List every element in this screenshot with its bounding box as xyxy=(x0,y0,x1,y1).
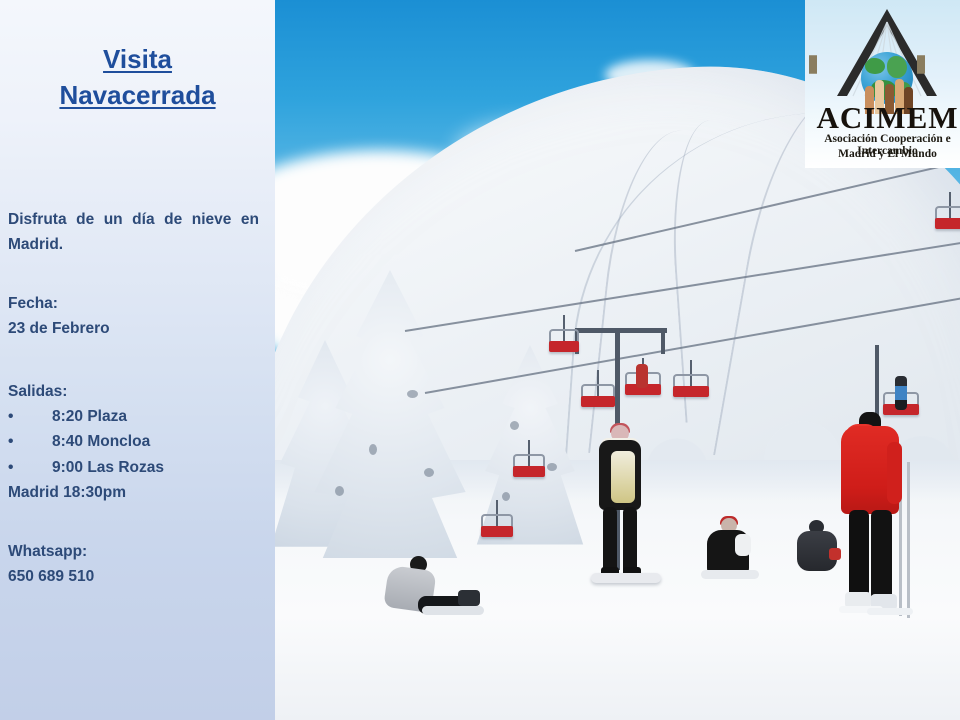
date-value: 23 de Febrero xyxy=(8,316,267,341)
books-right-icon xyxy=(917,56,960,104)
bullet-icon: • xyxy=(8,404,18,429)
logo-subtitle-2: Madrid y El Mundo xyxy=(805,148,960,160)
chair-rider xyxy=(636,364,648,388)
list-item: • 9:00 Las Rozas xyxy=(8,455,267,480)
logo-name: ACIMEM xyxy=(805,100,960,136)
tree-detail xyxy=(407,390,418,398)
list-item: • 8:20 Plaza xyxy=(8,404,267,429)
departure-text: 8:20 Plaza xyxy=(52,404,127,429)
date-label: Fecha: xyxy=(8,291,267,316)
chair-seat xyxy=(549,341,579,352)
chair-seat xyxy=(513,466,545,477)
info-panel: Visita Navacerrada Disfruta de un día de… xyxy=(0,0,275,720)
tree-detail xyxy=(369,444,377,455)
intro-text: Disfruta de un día de nieve en Madrid. xyxy=(8,207,267,257)
chair-seat xyxy=(935,218,960,229)
tree-detail xyxy=(424,468,434,477)
chair-rider xyxy=(895,376,907,410)
snowboard xyxy=(701,570,759,579)
person-boot xyxy=(458,590,480,606)
globe-land xyxy=(887,56,907,78)
title-line-2: Navacerrada xyxy=(8,78,267,114)
whatsapp-block: Whatsapp: 650 689 510 xyxy=(8,539,267,589)
departures-block: Salidas: • 8:20 Plaza • 8:40 Moncloa • 9… xyxy=(8,379,267,505)
acimem-logo: ACIMEM Asociación Cooperación e Intercam… xyxy=(805,0,960,168)
chair-seat xyxy=(481,526,513,537)
ski-pole xyxy=(907,462,910,618)
lift-pylon-arm xyxy=(575,328,667,333)
snowboard xyxy=(591,573,661,583)
person-skier-red-jacket xyxy=(835,412,925,622)
lift-pylon-arm xyxy=(661,328,665,354)
departure-text: 8:40 Moncloa xyxy=(52,429,150,454)
globe-land xyxy=(865,58,885,74)
person-leg xyxy=(849,510,869,598)
books-left-icon xyxy=(809,56,857,104)
person-gear xyxy=(735,534,751,556)
return-time: Madrid 18:30pm xyxy=(8,480,267,505)
title-line-1: Visita xyxy=(8,42,267,78)
person-kneeling xyxy=(705,518,765,582)
person-leg xyxy=(871,510,892,600)
list-item: • 8:40 Moncloa xyxy=(8,429,267,454)
bullet-icon: • xyxy=(8,429,18,454)
book xyxy=(815,55,817,74)
chair-seat xyxy=(581,396,615,407)
tree-detail xyxy=(547,463,557,471)
person-arm xyxy=(887,442,902,504)
backpack xyxy=(611,451,635,503)
person-standing-snowboarder xyxy=(589,425,665,595)
whatsapp-label: Whatsapp: xyxy=(8,539,267,564)
tree-detail xyxy=(335,486,344,496)
book xyxy=(923,55,925,74)
ski xyxy=(867,608,913,615)
bullet-icon: • xyxy=(8,455,18,480)
slide-canvas: Visita Navacerrada Disfruta de un día de… xyxy=(0,0,960,720)
tree-detail xyxy=(502,492,510,501)
person-sitting xyxy=(380,556,490,626)
date-block: Fecha: 23 de Febrero xyxy=(8,291,267,341)
whatsapp-number: 650 689 510 xyxy=(8,564,267,589)
departure-text: 9:00 Las Rozas xyxy=(52,455,164,480)
page-title: Visita Navacerrada xyxy=(8,42,267,114)
snowboard xyxy=(422,606,484,615)
chair-seat xyxy=(673,386,709,397)
departures-label: Salidas: xyxy=(8,379,267,404)
tree-detail xyxy=(510,421,519,430)
